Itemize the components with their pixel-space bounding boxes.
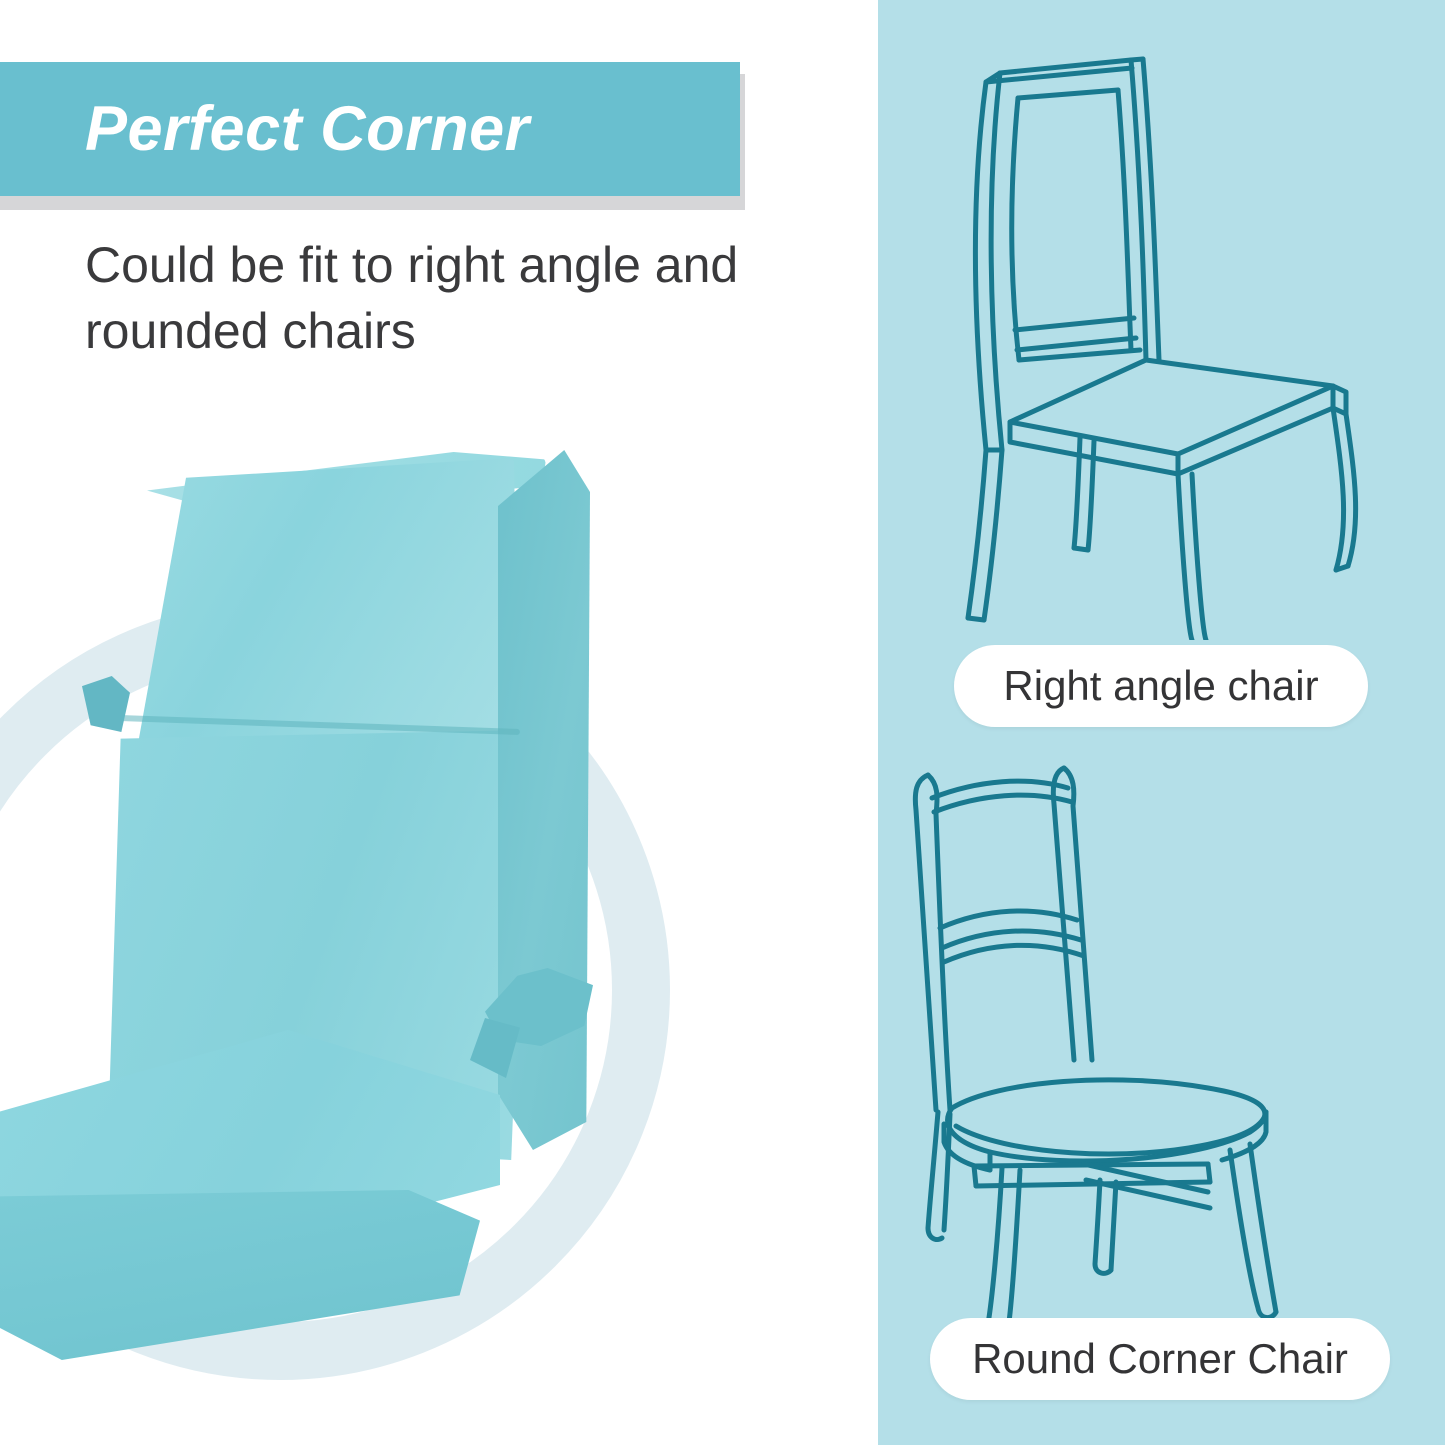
cushion-tie-strap-left bbox=[82, 676, 130, 732]
right-angle-chair-illustration bbox=[878, 30, 1445, 640]
right-panel: Right angle chair bbox=[878, 0, 1445, 1445]
round-corner-chair-illustration bbox=[878, 740, 1445, 1340]
cushion-seat-front-face bbox=[0, 1190, 480, 1360]
label-right-angle-chair-text: Right angle chair bbox=[1003, 662, 1318, 710]
product-image-chair-cushion bbox=[0, 430, 660, 1390]
subtitle-text: Could be fit to right angle and rounded … bbox=[85, 232, 845, 364]
page-title: Perfect Corner bbox=[85, 93, 530, 165]
label-round-corner-chair-text: Round Corner Chair bbox=[972, 1335, 1348, 1383]
infographic-page: Perfect Corner Could be fit to right ang… bbox=[0, 0, 1445, 1445]
label-right-angle-chair: Right angle chair bbox=[954, 645, 1368, 727]
label-round-corner-chair: Round Corner Chair bbox=[930, 1318, 1390, 1400]
left-panel: Perfect Corner Could be fit to right ang… bbox=[0, 0, 878, 1445]
title-banner: Perfect Corner bbox=[0, 62, 740, 196]
